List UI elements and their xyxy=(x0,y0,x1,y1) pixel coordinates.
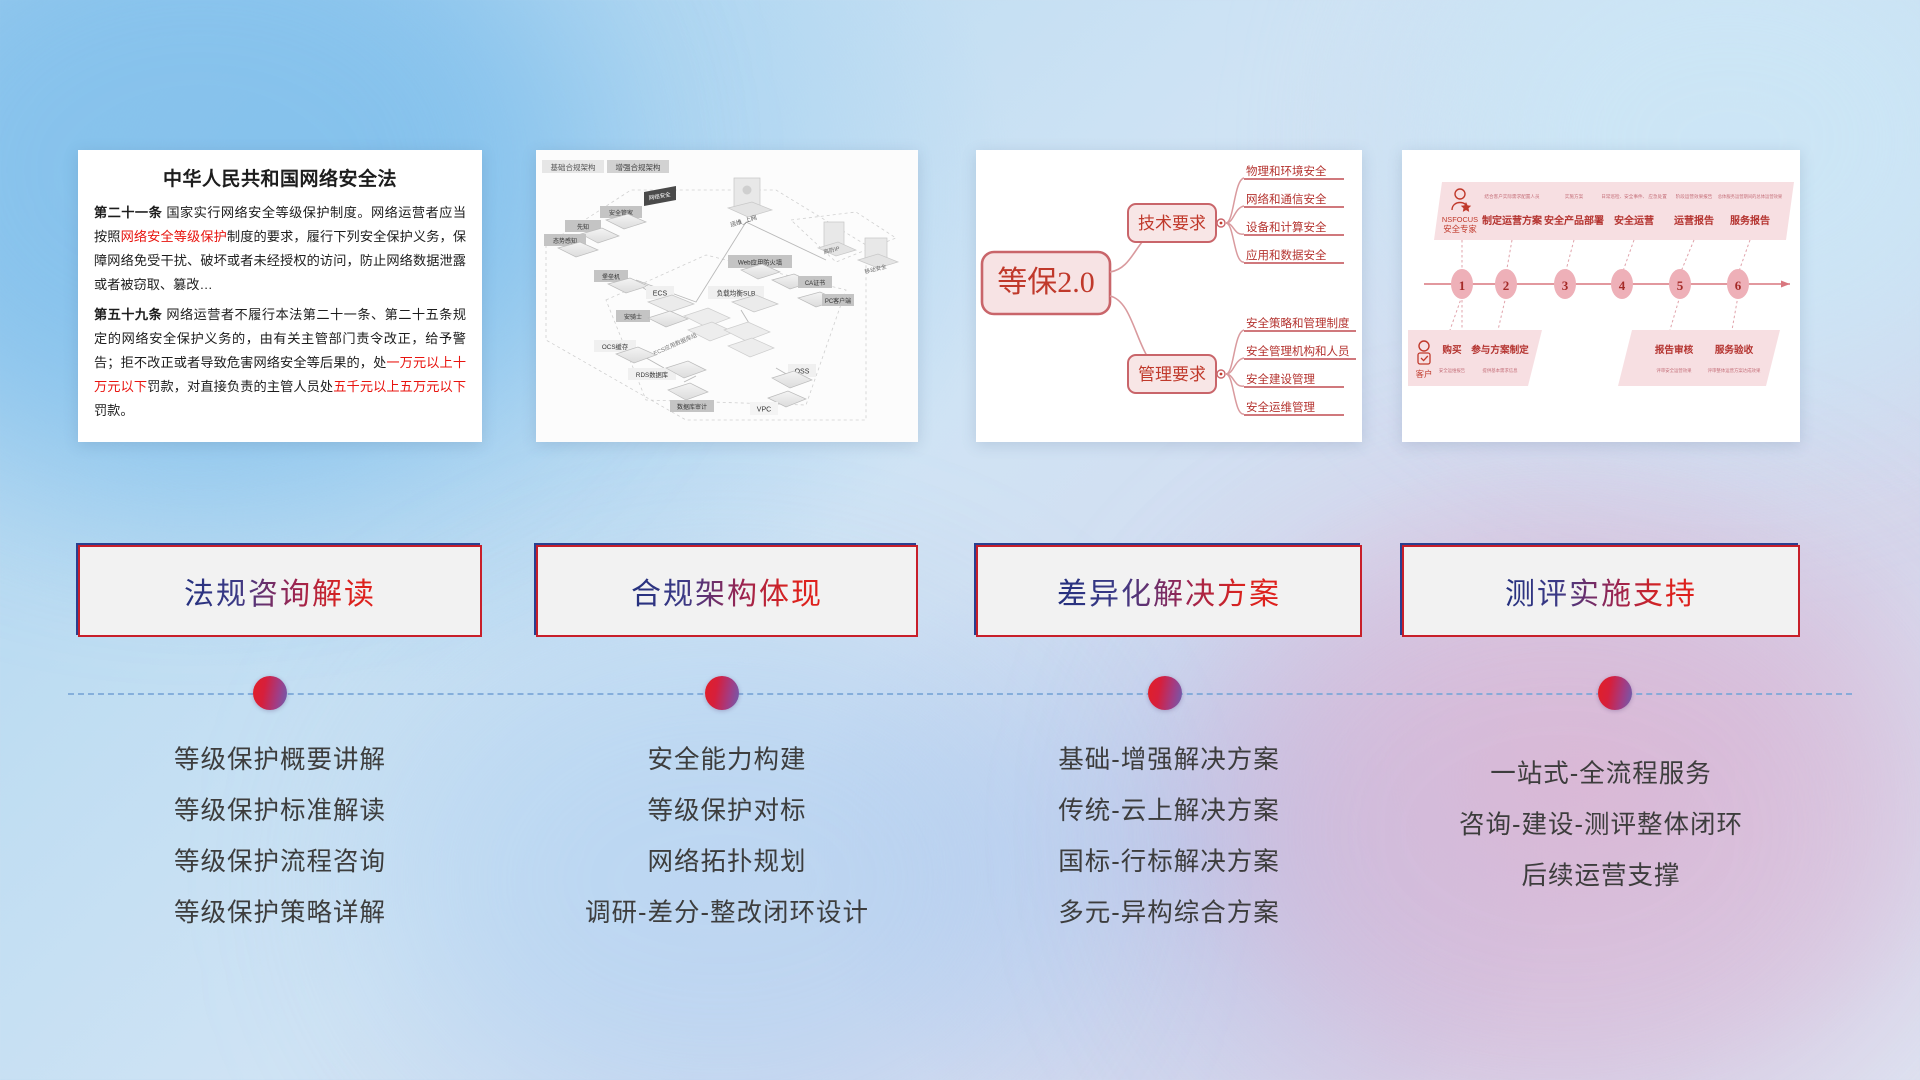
list-item: 等级保护对标 xyxy=(536,786,918,837)
timeline-dashed-line xyxy=(68,693,1852,695)
arch-node-7: CA证书 xyxy=(805,279,825,287)
timeline-axis-num-6: 6 xyxy=(1735,278,1742,293)
arch-tab-0: 基础合规架构 xyxy=(551,162,596,172)
arch-node-19: VPC xyxy=(757,407,771,414)
section-label-text-0: 法规咨询解读 xyxy=(184,569,376,613)
list-item: 等级保护流程咨询 xyxy=(78,837,482,888)
timeline-step-2b-caption: 提供基本需求信息 xyxy=(1482,367,1518,374)
service-timeline-svg: NSFOCUS 安全专家 结合客户实际需求配置人员 制定运营方案 实施方案 安全… xyxy=(1402,150,1800,442)
section-detail-column-2: 基础-增强解决方案 传统-云上解决方案 国标-行标解决方案 多元-异构综合方案 xyxy=(976,735,1362,939)
mindmap-branch-1-item-0: 安全策略和管理制度 xyxy=(1246,316,1350,330)
timeline-step-6-title: 服务报告 xyxy=(1730,214,1770,227)
list-item: 基础-增强解决方案 xyxy=(976,735,1362,786)
law-article-21-highlight: 网络安全等级保护 xyxy=(121,229,227,244)
section-detail-column-3: 一站式-全流程服务 咨询-建设-测评整体闭环 后续运营支撑 xyxy=(1402,749,1800,902)
law-article-59: 第五十九条 网络运营者不履行本法第二十一条、第二十五条规定的网络安全保护义务的，… xyxy=(94,303,466,423)
arch-node-11: ECS xyxy=(653,291,668,298)
section-label-text-1: 合规架构体现 xyxy=(631,569,823,613)
timeline-axis-num-5: 5 xyxy=(1677,278,1684,293)
timeline-dot-0 xyxy=(253,676,287,710)
arch-node-2: 先知 xyxy=(577,223,589,231)
timeline-axis-num-4: 4 xyxy=(1619,278,1626,293)
timeline-customer-role: 客户 xyxy=(1416,369,1433,379)
timeline-axis-num-1: 1 xyxy=(1459,278,1466,293)
mindmap-branch-0-item-2: 设备和计算安全 xyxy=(1246,220,1327,234)
list-item: 等级保护概要讲解 xyxy=(78,735,482,786)
timeline-brand-label: NSFOCUS xyxy=(1442,215,1478,224)
list-item: 国标-行标解决方案 xyxy=(976,837,1362,888)
timeline-dot-1 xyxy=(705,676,739,710)
timeline-axis-num-2: 2 xyxy=(1503,278,1510,293)
list-item: 等级保护策略详解 xyxy=(78,888,482,939)
timeline-step-6b-title: 服务验收 xyxy=(1715,344,1754,356)
section-label-row: 法规咨询解读 合规架构体现 差异化解决方案 测评实施支持 xyxy=(0,545,1920,637)
arch-node-10: PC客户端 xyxy=(825,297,851,305)
arch-node-15: RDS数据库 xyxy=(636,370,668,379)
law-article-59-run-4: 罚款。 xyxy=(94,403,134,418)
list-item: 多元-异构综合方案 xyxy=(976,888,1362,939)
service-timeline-diagram: NSFOCUS 安全专家 结合客户实际需求配置人员 制定运营方案 实施方案 安全… xyxy=(1402,150,1800,442)
list-item: 咨询-建设-测评整体闭环 xyxy=(1402,800,1800,851)
section-detail-columns: 等级保护概要讲解 等级保护标准解读 等级保护流程咨询 等级保护策略详解 安全能力… xyxy=(0,735,1920,965)
timeline-step-2t-title: 制定运营方案 xyxy=(1482,214,1543,227)
mindmap-branch-0-item-0: 物理和环境安全 xyxy=(1246,164,1327,178)
timeline-step-5b-title: 报告审核 xyxy=(1655,344,1694,356)
law-article-21: 第二十一条 国家实行网络安全等级保护制度。网络运营者应当按照网络安全等级保护制度… xyxy=(94,201,466,297)
section-label-box-1[interactable]: 合规架构体现 xyxy=(536,545,918,637)
mindmap-branch-1-item-1: 安全管理机构和人员 xyxy=(1246,344,1350,358)
arch-node-13: 安骑士 xyxy=(624,313,642,321)
law-article-59-number: 第五十九条 xyxy=(94,307,162,322)
law-article-59-run-2: 罚款，对直接负责的主管人员处 xyxy=(147,379,333,394)
section-label-box-0[interactable]: 法规咨询解读 xyxy=(78,545,482,637)
law-article-21-number: 第二十一条 xyxy=(94,205,162,220)
timeline-step-4-title: 安全运营 xyxy=(1614,214,1654,227)
section-label-box-3[interactable]: 测评实施支持 xyxy=(1402,545,1800,637)
cloud-architecture-diagram: 基础合规架构 增强合规架构 xyxy=(536,150,918,442)
timeline-expert-role: 安全专家 xyxy=(1443,224,1477,234)
timeline-connector xyxy=(0,666,1920,722)
list-item: 传统-云上解决方案 xyxy=(976,786,1362,837)
arch-node-4: 堡垒机 xyxy=(602,273,620,281)
law-document-card: 中华人民共和国网络安全法 第二十一条 国家实行网络安全等级保护制度。网络运营者应… xyxy=(78,150,482,442)
timeline-step-5-caption: 阶段运营效果报告 xyxy=(1676,193,1713,200)
timeline-step-3-title: 安全产品部署 xyxy=(1544,214,1604,227)
arch-node-12: 负载均衡SLB xyxy=(717,289,756,298)
section-detail-column-0: 等级保护概要讲解 等级保护标准解读 等级保护流程咨询 等级保护策略详解 xyxy=(78,735,482,939)
timeline-dot-2 xyxy=(1148,676,1182,710)
arch-node-16: 数据库审计 xyxy=(677,403,707,411)
section-detail-column-1: 安全能力构建 等级保护对标 网络拓扑规划 调研-差分-整改闭环设计 xyxy=(536,735,918,939)
list-item: 一站式-全流程服务 xyxy=(1402,749,1800,800)
timeline-step-2b-title: 参与方案制定 xyxy=(1471,344,1529,356)
list-item: 安全能力构建 xyxy=(536,735,918,786)
timeline-step-1-caption: 安全运维报告 xyxy=(1439,367,1466,374)
timeline-step-2t-caption: 结合客户实际需求配置人员 xyxy=(1484,193,1540,200)
cloud-architecture-card: 基础合规架构 增强合规架构 xyxy=(536,150,918,442)
mindmap-svg: 等保2.0 技术要求 xyxy=(976,150,1362,442)
mindmap-root-label: 等保2.0 xyxy=(997,266,1095,299)
service-timeline-card: NSFOCUS 安全专家 结合客户实际需求配置人员 制定运营方案 实施方案 安全… xyxy=(1402,150,1800,442)
mindmap-branch-0-item-1: 网络和通信安全 xyxy=(1246,192,1327,206)
card-row: 中华人民共和国网络安全法 第二十一条 国家实行网络安全等级保护制度。网络运营者应… xyxy=(0,150,1920,442)
mindmap-branch-1-item-3: 安全运维管理 xyxy=(1246,400,1315,414)
list-item: 后续运营支撑 xyxy=(1402,851,1800,902)
list-item: 等级保护标准解读 xyxy=(78,786,482,837)
timeline-step-5-title: 运营报告 xyxy=(1674,214,1714,227)
section-label-text-2: 差异化解决方案 xyxy=(1057,569,1281,613)
mindmap-diagram: 等保2.0 技术要求 xyxy=(976,150,1362,442)
mindmap-branch-1-label: 管理要求 xyxy=(1138,365,1206,384)
timeline-axis-num-3: 3 xyxy=(1562,278,1569,293)
list-item: 网络拓扑规划 xyxy=(536,837,918,888)
timeline-step-3-caption: 实施方案 xyxy=(1565,193,1584,200)
mindmap-branch-0-item-3: 应用和数据安全 xyxy=(1246,248,1327,262)
mindmap-card: 等保2.0 技术要求 xyxy=(976,150,1362,442)
timeline-step-6b-caption: 评审整体运营方案达成效果 xyxy=(1708,367,1761,374)
arch-node-14: OCS缓存 xyxy=(602,342,629,351)
section-label-box-2[interactable]: 差异化解决方案 xyxy=(976,545,1362,637)
mindmap-branch-0-label: 技术要求 xyxy=(1138,214,1206,233)
timeline-step-4-caption: 日常巡检、安全事件、 应急处置 xyxy=(1601,193,1667,200)
law-document-body: 中华人民共和国网络安全法 第二十一条 国家实行网络安全等级保护制度。网络运营者应… xyxy=(78,150,482,433)
arch-tab-1: 增强合规架构 xyxy=(616,162,661,172)
law-article-59-highlight-2: 五千元以上五万元以下 xyxy=(333,379,466,394)
mindmap-branch-1-item-2: 安全建设管理 xyxy=(1246,372,1315,386)
timeline-step-6-caption: 总体服务运营期间的总体运营效果 xyxy=(1718,193,1783,200)
section-label-text-3: 测评实施支持 xyxy=(1505,569,1697,613)
slide-stage: 中华人民共和国网络安全法 第二十一条 国家实行网络安全等级保护制度。网络运营者应… xyxy=(0,0,1920,1080)
list-item: 调研-差分-整改闭环设计 xyxy=(536,888,918,939)
timeline-dot-3 xyxy=(1598,676,1632,710)
architecture-svg: 基础合规架构 增强合规架构 xyxy=(536,150,918,442)
law-title: 中华人民共和国网络安全法 xyxy=(94,164,466,191)
timeline-step-5b-caption: 评审安全运营效果 xyxy=(1656,367,1692,374)
timeline-step-1-title: 购买 xyxy=(1442,344,1462,356)
